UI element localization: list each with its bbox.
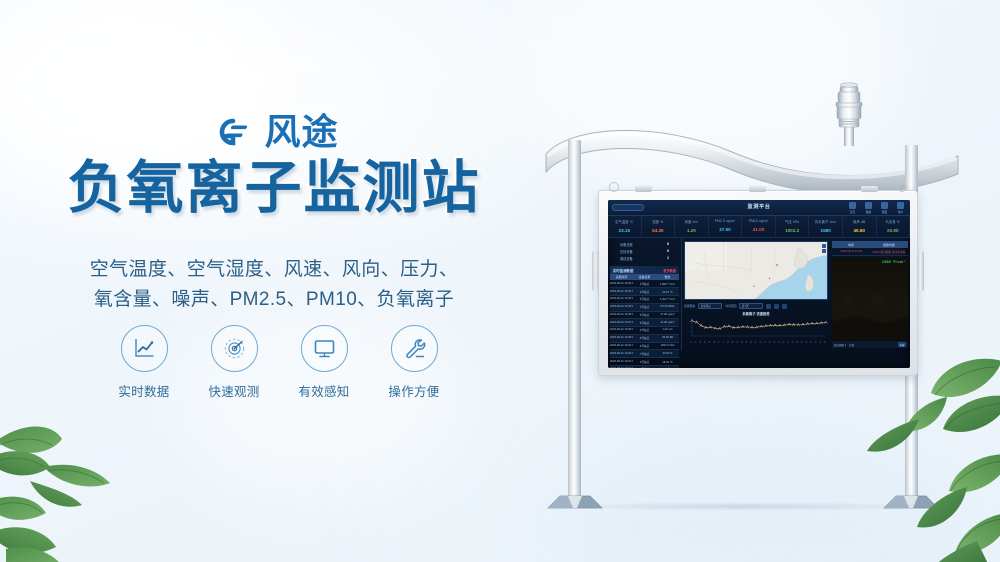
kpi-label: 湿度 % xyxy=(642,219,675,224)
table-cell: 20.90 % xyxy=(656,350,679,357)
china-map[interactable] xyxy=(684,241,828,300)
svg-text:06-16: 06-16 xyxy=(707,341,711,343)
kpi-value: 23.15 xyxy=(608,228,641,233)
kpi-card: 气压 hPa1002.3 xyxy=(776,216,810,237)
svg-text:06-19: 06-19 xyxy=(735,341,739,343)
table-row[interactable]: 2023-06-21 10:28:055号站点27.00 ug/m³ xyxy=(610,312,679,320)
map-zoom-controls[interactable] xyxy=(822,244,826,254)
table-cell: 4号站点 xyxy=(633,319,656,326)
table-cell: 1,580 个/cm³ xyxy=(656,280,679,287)
table-body: 2023-06-21 10:32:051号站点1,580 个/cm³2023-0… xyxy=(610,280,679,368)
mount-ring xyxy=(897,182,907,192)
kpi-card: 负氧离子 /cm³1580 xyxy=(809,216,843,237)
table-cell: 1号站点 xyxy=(633,358,656,365)
feature-item-realtime-data[interactable]: 实时数据 xyxy=(113,325,175,400)
table-cell: 54.30 %RH xyxy=(656,304,679,311)
table-cell: 2号站点 xyxy=(633,327,656,334)
feature-label: 快速观测 xyxy=(203,381,265,400)
table-row[interactable]: 2023-06-21 10:23:057号站点20.90 % xyxy=(610,350,679,358)
mount-tab xyxy=(861,186,878,192)
dashboard-right-panel: 时间 报警内容 2023-06-21 10:18 PM10 超过阈值,请注意查看 xyxy=(830,238,910,351)
chart-select2-label: 时间范围 xyxy=(725,304,736,308)
table-cell: 2023-06-21 10:22:05 xyxy=(610,358,633,365)
table-cell: 2023-06-21 10:25:05 xyxy=(610,335,633,342)
feature-icon-circle xyxy=(391,325,438,372)
table-cell: 1.20 m/s xyxy=(656,327,679,334)
camera-toolbar: 监控画面 1 在线 全屏 xyxy=(832,341,908,348)
feature-icon-circle xyxy=(211,325,258,372)
kpi-value: 1002.3 xyxy=(776,228,809,233)
kpi-row: 空气温度 ℃23.15湿度 %54.30风速 m/s1.20PM2.5 ug/m… xyxy=(608,216,910,238)
table-cell: 1号站点 xyxy=(633,280,656,287)
alert-table-header: 时间 报警内容 xyxy=(832,241,908,248)
table-cell: 1002.3 hPa xyxy=(656,343,679,350)
user-icon[interactable]: 用户 xyxy=(895,202,906,213)
camera-label-right: 在线 xyxy=(849,343,854,347)
more-data-button[interactable]: 更多数据 xyxy=(663,268,676,273)
table-cell: 27.00 ug/m³ xyxy=(656,312,679,319)
kpi-label: 气压 hPa xyxy=(776,219,809,224)
support-pole-left xyxy=(568,140,581,502)
dashboard-center-panel: 监测要素 负氧离子 时间范围 近7天 负氧离子 浓度趋势 06-1406-140… xyxy=(682,238,830,351)
feature-label: 有效感知 xyxy=(293,381,355,400)
feature-icon-circle xyxy=(301,325,348,372)
table-cell: 2023-06-21 10:31:05 xyxy=(610,288,633,295)
chart-select2[interactable]: 近7天 xyxy=(739,303,763,309)
table-row[interactable]: 2023-06-21 10:25:056号站点45.60 dB xyxy=(610,335,679,343)
feature-label: 操作方便 xyxy=(383,381,445,400)
table-cell: 2023-06-21 10:21:05 xyxy=(610,366,633,368)
trend-chart-svg: 06-1406-1406-1506-1506-1606-1606-1706-17… xyxy=(684,317,828,343)
svg-text:06-21: 06-21 xyxy=(804,341,808,343)
table-cell: 7号站点 xyxy=(633,350,656,357)
camera-fullscreen-button[interactable]: 全屏 xyxy=(898,342,906,347)
kpi-label: PM10 ug/m³ xyxy=(742,219,775,223)
svg-text:06-21: 06-21 xyxy=(781,341,785,343)
camera-label-left: 监控画面 1 xyxy=(834,343,846,347)
svg-text:06-20: 06-20 xyxy=(749,341,753,343)
device-stat-row: 在线设备6 xyxy=(610,249,679,254)
svg-text:06-21: 06-21 xyxy=(758,341,762,343)
table-cell: 5号站点 xyxy=(633,312,656,319)
dashboard-screen[interactable]: 监测平台 首页 数据 报警 用户 空气温度 ℃23.15湿度 % xyxy=(608,200,910,368)
alert-content: PM10 超过阈值,请注意查看 xyxy=(870,250,908,254)
reset-button[interactable] xyxy=(774,304,779,309)
kpi-label: 噪声 dB xyxy=(843,219,876,224)
device-stat-value: 8 xyxy=(667,242,669,247)
kpi-value: 54.30 xyxy=(642,228,675,233)
feature-item-easy-operation[interactable]: 操作方便 xyxy=(383,325,445,400)
kpi-value: 27.00 xyxy=(709,227,742,232)
kpi-value: 41.00 xyxy=(742,227,775,232)
monitoring-station-illustration: 监测平台 首页 数据 报警 用户 空气温度 ℃23.15湿度 % xyxy=(520,0,1000,562)
table-cell: 2023-06-21 10:26:05 xyxy=(610,327,633,334)
feature-item-effective-sensing[interactable]: 有效感知 xyxy=(293,325,355,400)
camera-noise xyxy=(832,258,908,334)
table-row[interactable]: 2023-06-21 10:27:054号站点41.00 ug/m³ xyxy=(610,319,679,327)
mount-tab xyxy=(749,186,766,192)
radar-signal-icon xyxy=(222,336,247,361)
table-cell: 23.15 ℃ xyxy=(656,288,679,295)
table-cell: 2023-06-21 10:23:05 xyxy=(610,350,633,357)
monitor-icon xyxy=(312,336,337,361)
kpi-card: 氧含量 %20.90 xyxy=(877,216,911,237)
svg-text:06-21: 06-21 xyxy=(809,341,813,343)
table-cell: 6号站点 xyxy=(633,335,656,342)
svg-text:06-21: 06-21 xyxy=(813,341,817,343)
subtitle-line-1: 空气温度、空气湿度、风速、风向、压力、 xyxy=(0,255,548,285)
table-cell: 2号站点 xyxy=(633,288,656,295)
device-stat-value: 2 xyxy=(667,256,669,261)
alert-col-content: 报警内容 xyxy=(870,243,908,247)
svg-text:06-21: 06-21 xyxy=(799,341,803,343)
kpi-label: PM2.5 ug/m³ xyxy=(709,219,742,223)
mount-tab xyxy=(635,186,652,192)
dashboard-header: 监测平台 首页 数据 报警 用户 xyxy=(608,200,910,216)
svg-text:06-19: 06-19 xyxy=(739,341,743,343)
table-cell: 1,402 个/cm³ xyxy=(656,296,679,303)
zoom-out-icon[interactable] xyxy=(822,249,826,253)
top-icon-label: 报警 xyxy=(879,210,890,214)
chart-select1[interactable]: 负氧离子 xyxy=(698,303,722,309)
dashboard-left-panel: 设备总数8在线设备6离线设备2 实时监测数据 更多数据 采集时间设备名称数值 2… xyxy=(608,238,682,351)
table-cell: 2023-06-21 10:28:05 xyxy=(610,312,633,319)
table-cell: 3号站点 xyxy=(633,343,656,350)
kpi-card: 空气温度 ℃23.15 xyxy=(608,216,642,237)
data-table-header: 实时监测数据 更多数据 xyxy=(610,266,679,274)
camera-reading: 1580 个/cm³ xyxy=(882,260,905,265)
svg-text:06-16: 06-16 xyxy=(712,341,716,343)
svg-text:06-21: 06-21 xyxy=(772,341,776,343)
table-cell: 41.00 ug/m³ xyxy=(656,319,679,326)
wrench-icon xyxy=(402,336,427,361)
svg-text:06-21: 06-21 xyxy=(753,341,757,343)
svg-text:06-18: 06-18 xyxy=(726,341,730,343)
map-landmass xyxy=(685,242,827,300)
device-stat-label: 在线设备 xyxy=(620,249,633,254)
device-stat-row: 离线设备2 xyxy=(610,256,679,261)
table-caption: 实时监测数据 xyxy=(613,268,633,273)
side-bracket-right xyxy=(917,251,924,291)
device-stat-value: 6 xyxy=(667,249,669,254)
home-icon[interactable]: 首页 xyxy=(847,202,858,213)
feature-item-fast-observation[interactable]: 快速观测 xyxy=(203,325,265,400)
table-cell: 45.60 dB xyxy=(656,335,679,342)
svg-text:06-18: 06-18 xyxy=(730,341,734,343)
data-icon[interactable]: 数据 xyxy=(863,202,874,213)
fengtu-wind-logo-icon xyxy=(209,112,255,152)
svg-text:06-21: 06-21 xyxy=(790,341,794,343)
kpi-value: 1580 xyxy=(809,228,842,233)
alert-row: 2023-06-21 10:18 PM10 超过阈值,请注意查看 xyxy=(832,248,908,256)
svg-text:06-21: 06-21 xyxy=(767,341,771,343)
page-title: 负氧离子监测站 xyxy=(0,157,548,221)
table-cell: 2023-06-21 10:32:05 xyxy=(610,280,633,287)
table-row[interactable]: 2023-06-21 10:21:058号站点1,275 个/cm³ xyxy=(610,366,679,368)
device-stats: 设备总数8在线设备6离线设备2 xyxy=(610,242,679,261)
dashboard-body: 设备总数8在线设备6离线设备2 实时监测数据 更多数据 采集时间设备名称数值 2… xyxy=(608,238,910,351)
query-button[interactable] xyxy=(766,304,771,309)
table-cell: 3号站点 xyxy=(633,296,656,303)
svg-text:06-21: 06-21 xyxy=(818,341,822,343)
subtitle-line-2: 氧含量、噪声、PM2.5、PM10、负氧离子 xyxy=(0,285,548,315)
svg-text:06-21: 06-21 xyxy=(786,341,790,343)
ground-shadow xyxy=(548,502,938,511)
table-row[interactable]: 2023-06-21 10:24:053号站点1002.3 hPa xyxy=(610,343,679,351)
export-button[interactable] xyxy=(782,304,787,309)
table-cell: 1,275 个/cm³ xyxy=(656,366,679,368)
svg-text:06-21: 06-21 xyxy=(776,341,780,343)
kpi-label: 负氧离子 /cm³ xyxy=(809,219,842,224)
kpi-card: 噪声 dB45.60 xyxy=(843,216,877,237)
side-bracket-left xyxy=(592,251,599,291)
table-cell: 18.32 ℃ xyxy=(656,358,679,365)
line-chart-icon xyxy=(132,336,157,361)
alert-col-time: 时间 xyxy=(832,243,870,247)
kpi-card: PM10 ug/m³41.00 xyxy=(742,216,776,237)
chart-title: 负氧离子 浓度趋势 xyxy=(684,311,828,316)
table-cell: 1号站点 xyxy=(633,304,656,311)
zoom-in-icon[interactable] xyxy=(822,244,826,248)
kpi-value: 20.90 xyxy=(877,228,910,233)
table-row[interactable]: 2023-06-21 10:30:053号站点1,402 个/cm³ xyxy=(610,296,679,304)
brand-name: 风途 xyxy=(264,114,338,150)
feature-label: 实时数据 xyxy=(113,381,175,400)
table-cell: 8号站点 xyxy=(633,366,656,368)
table-row[interactable]: 2023-06-21 10:31:052号站点23.15 ℃ xyxy=(610,288,679,296)
svg-text:06-17: 06-17 xyxy=(716,341,720,343)
svg-text:06-15: 06-15 xyxy=(702,341,706,343)
mount-ring xyxy=(609,182,619,192)
top-icon-label: 用户 xyxy=(895,210,906,214)
hero-text-column: 风途 负氧离子监测站 空气温度、空气湿度、风速、风向、压力、 氧含量、噪声、PM… xyxy=(0,0,548,562)
chart-select1-label: 监测要素 xyxy=(684,304,695,308)
device-stat-label: 离线设备 xyxy=(620,256,633,261)
kpi-card: 湿度 %54.30 xyxy=(642,216,676,237)
kpi-label: 风速 m/s xyxy=(675,219,708,224)
kpi-card: 风速 m/s1.20 xyxy=(675,216,709,237)
table-cell: 2023-06-21 10:29:05 xyxy=(610,304,633,311)
kpi-value: 1.20 xyxy=(675,228,708,233)
svg-text:06-17: 06-17 xyxy=(721,341,725,343)
svg-text:06-15: 06-15 xyxy=(698,341,702,343)
table-row[interactable]: 2023-06-21 10:29:051号站点54.30 %RH xyxy=(610,304,679,312)
table-cell: 2023-06-21 10:24:05 xyxy=(610,343,633,350)
top-icon-label: 数据 xyxy=(863,210,874,214)
table-cell: 2023-06-21 10:30:05 xyxy=(610,296,633,303)
feature-list: 实时数据 快速观测 有效感知 xyxy=(0,325,548,400)
feature-icon-circle xyxy=(121,325,168,372)
dashboard-top-icons: 首页 数据 报警 用户 xyxy=(847,202,906,213)
table-row[interactable]: 2023-06-21 10:26:052号站点1.20 m/s xyxy=(610,327,679,335)
hero-subtitle: 空气温度、空气湿度、风速、风向、压力、 氧含量、噪声、PM2.5、PM10、负氧… xyxy=(0,255,548,315)
kpi-card: PM2.5 ug/m³27.00 xyxy=(709,216,743,237)
top-icon-label: 首页 xyxy=(847,210,858,214)
alert-time: 2023-06-21 10:18 xyxy=(832,250,870,254)
camera-feed[interactable]: 1580 个/cm³ 监控画面 1 在线 全屏 xyxy=(832,258,908,348)
svg-text:06-14: 06-14 xyxy=(689,341,693,343)
svg-text:06-21: 06-21 xyxy=(762,341,766,343)
table-row[interactable]: 2023-06-21 10:22:051号站点18.32 ℃ xyxy=(610,358,679,366)
svg-text:06-20: 06-20 xyxy=(744,341,748,343)
svg-text:06-21: 06-21 xyxy=(795,341,799,343)
brand-logo: 风途 xyxy=(0,112,548,152)
table-row[interactable]: 2023-06-21 10:32:051号站点1,580 个/cm³ xyxy=(610,280,679,288)
kpi-label: 空气温度 ℃ xyxy=(608,219,641,224)
svg-text:06-14: 06-14 xyxy=(693,341,697,343)
trend-chart: 负氧离子 浓度趋势 06-1406-1406-1506-1506-1606-16… xyxy=(684,311,828,348)
svg-text:06-21: 06-21 xyxy=(823,341,827,343)
table-cell: 2023-06-21 10:27:05 xyxy=(610,319,633,326)
chart-control-bar: 监测要素 负氧离子 时间范围 近7天 xyxy=(684,303,828,309)
kpi-label: 氧含量 % xyxy=(877,219,910,224)
kpi-value: 45.60 xyxy=(843,228,876,233)
device-stat-label: 设备总数 xyxy=(620,242,633,247)
device-stat-row: 设备总数8 xyxy=(610,242,679,247)
display-cabinet: 监测平台 首页 数据 报警 用户 空气温度 ℃23.15湿度 % xyxy=(598,190,918,376)
alarm-icon[interactable]: 报警 xyxy=(879,202,890,213)
